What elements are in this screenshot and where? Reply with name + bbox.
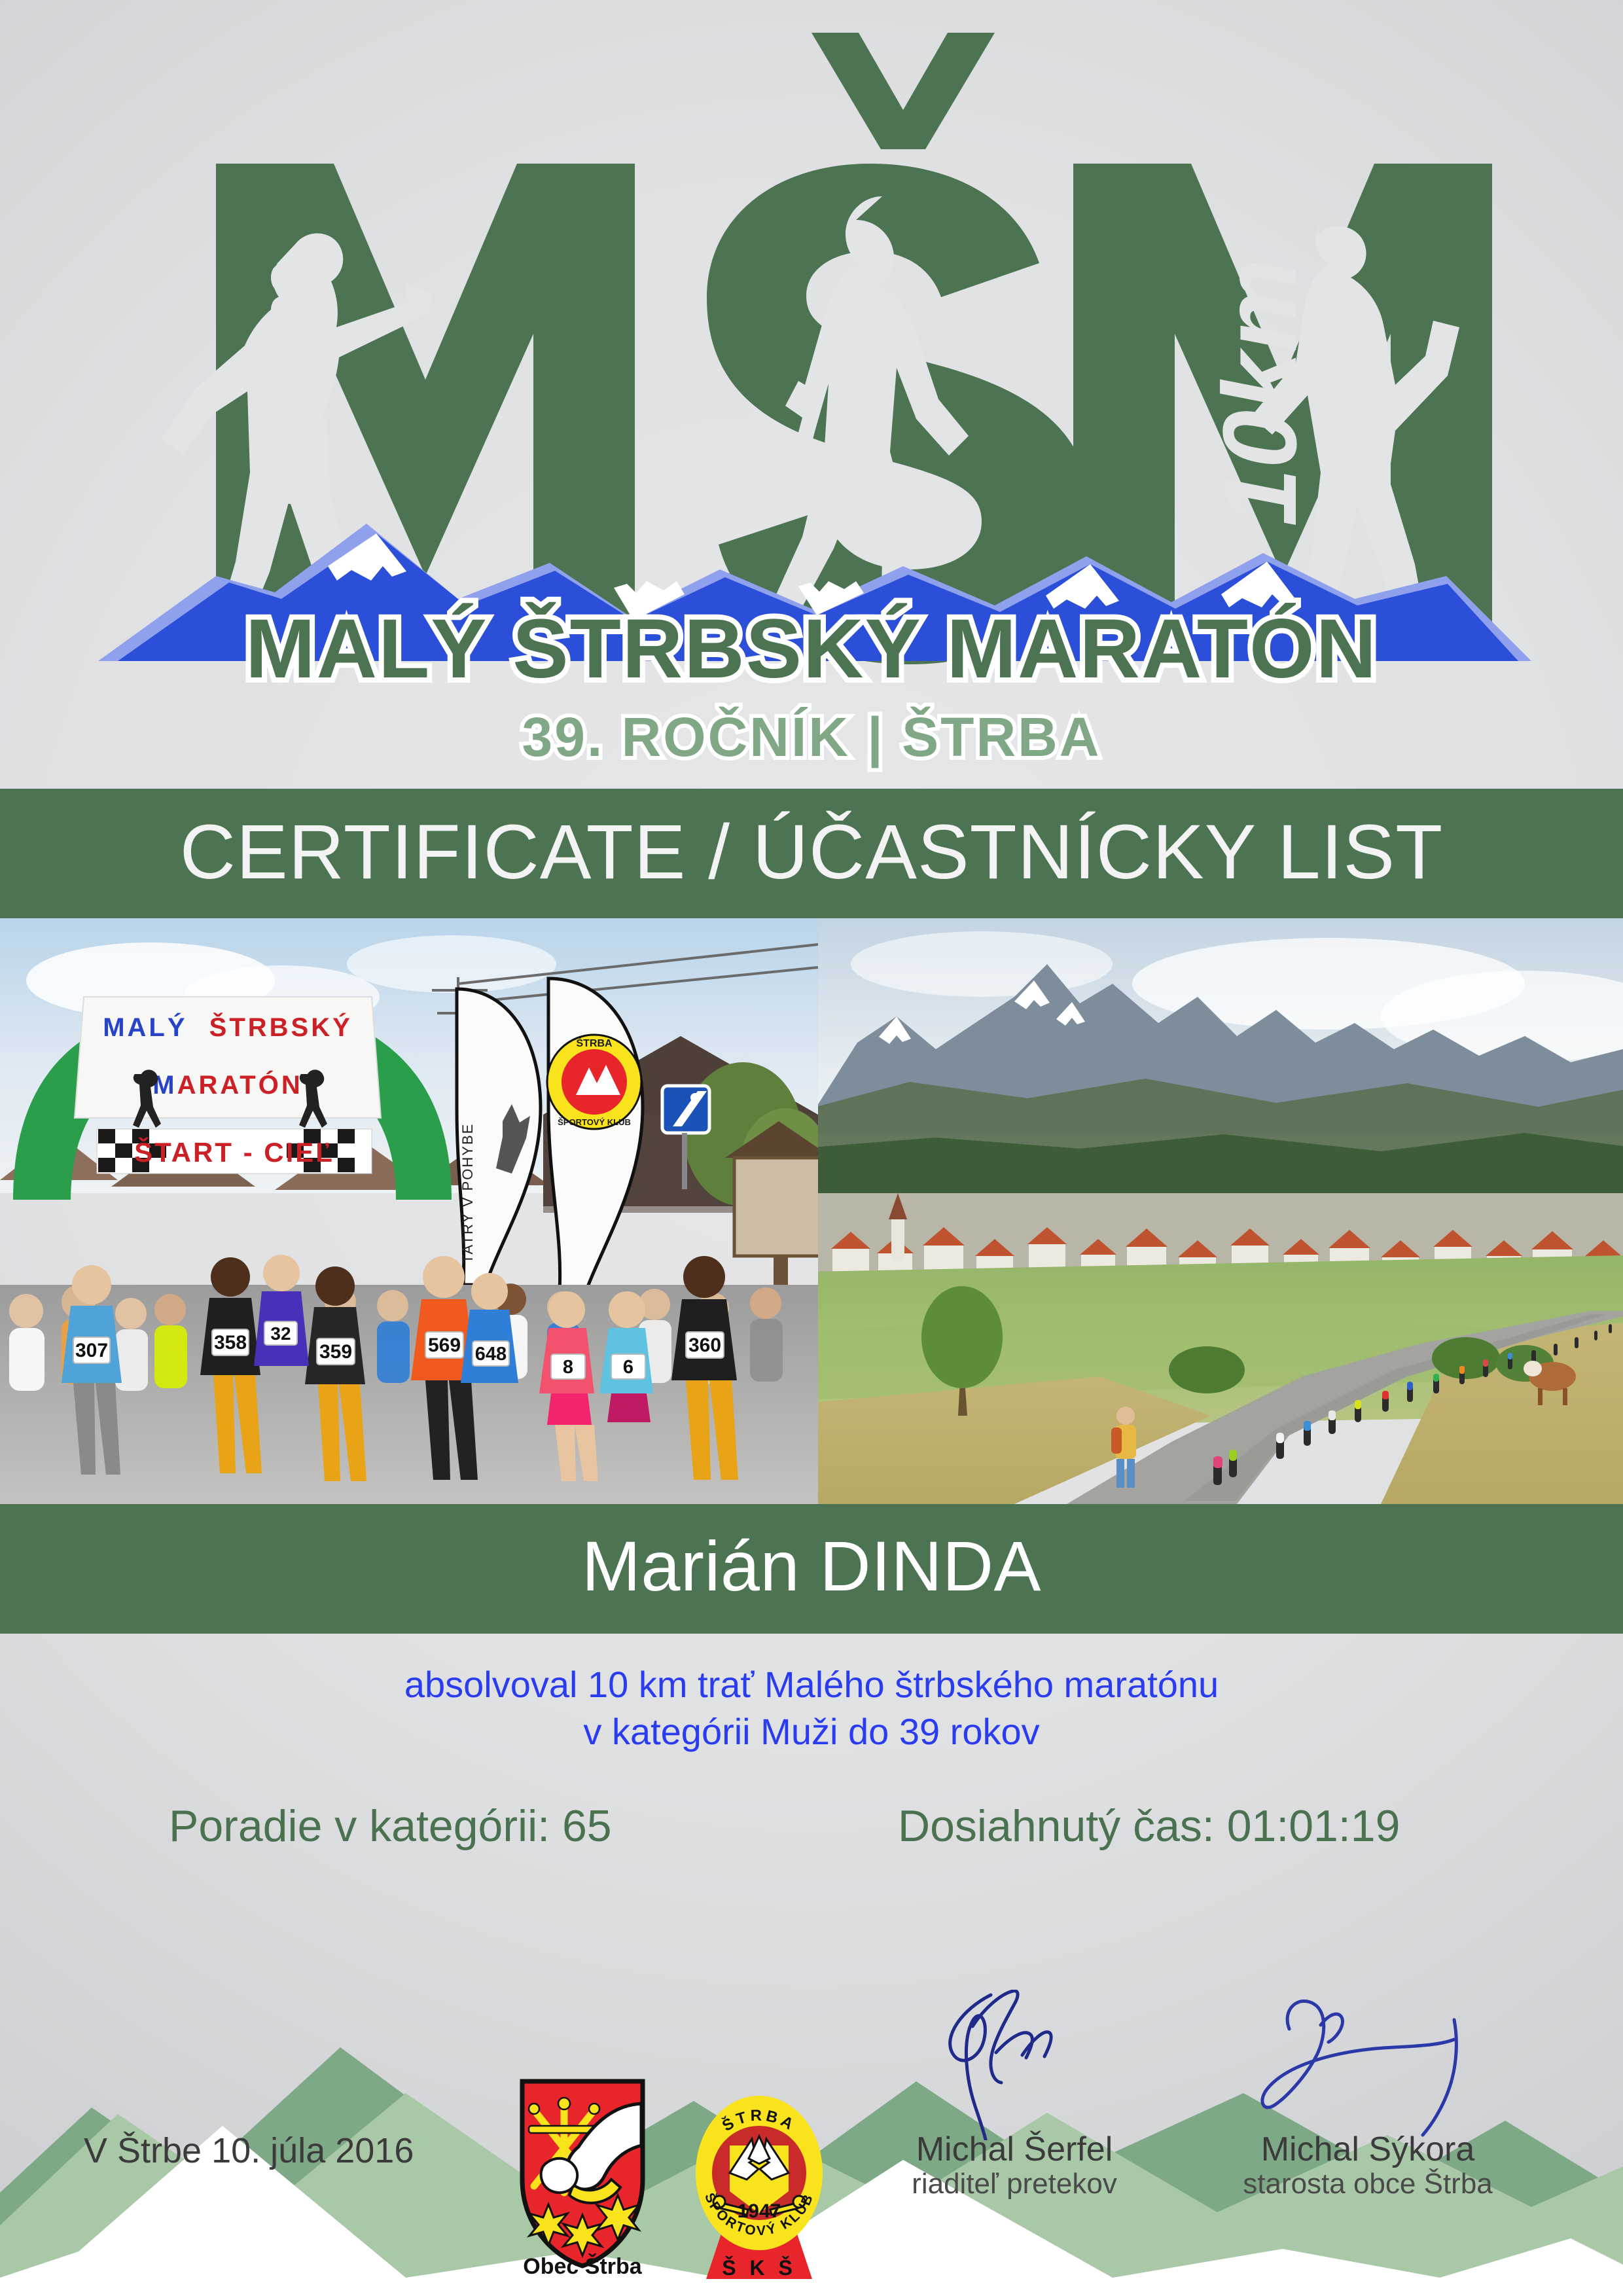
signatory-role: riaditeľ pretekov (844, 2168, 1185, 2201)
distance-left-label: 31km (232, 259, 349, 526)
arch-line1-b: ŠTRBSKÝ (209, 1012, 353, 1042)
participant-name-banner: Marián DINDA (0, 1504, 1623, 1634)
club-initials: Š K Š (722, 2256, 796, 2280)
obec-strba-coat-of-arms: Obec Štrba (510, 2076, 654, 2279)
signature-block-director: Michal Šerfel riaditeľ pretekov (844, 1990, 1185, 2201)
issue-date: V Štrbe 10. júla 2016 (84, 2130, 414, 2171)
signature-mark-sykora (1198, 1990, 1538, 2140)
certificate-page: 31km 10km (0, 0, 1623, 2296)
achievement-line-1: absolvoval 10 km trať Malého štrbského m… (0, 1661, 1623, 1708)
bib-number: 8 (563, 1357, 573, 1378)
bib-number: 6 (623, 1357, 633, 1378)
distance-right-label: 10km (1201, 259, 1318, 526)
sks-strba-club-logo: 1947 ŠTRBA ŠPORTOVÝ KLUB Š K Š (684, 2068, 834, 2284)
svg-text:ŠPORTOVÝ KLUB: ŠPORTOVÝ KLUB (558, 1117, 631, 1127)
participant-name: Marián DINDA (582, 1531, 1041, 1602)
certificate-title-banner: CERTIFICATE / ÚČASTNÍCKY LIST (0, 789, 1623, 918)
bib-number: 648 (475, 1344, 507, 1365)
certificate-footer: V Štrbe 10. júla 2016 (0, 2062, 1623, 2296)
photo-course-landscape (818, 918, 1623, 1504)
bib-number: 358 (214, 1332, 247, 1354)
signature-block-mayor: Michal Sýkora starosta obce Štrba (1198, 1990, 1538, 2201)
bib-number: 32 (270, 1323, 291, 1344)
bib-number: 360 (688, 1335, 721, 1356)
result-details: absolvoval 10 km trať Malého štrbského m… (0, 1634, 1623, 1909)
category-rank: Poradie v kategórii: 65 (169, 1801, 612, 1852)
signatory-name: Michal Šerfel (844, 2131, 1185, 2168)
signatory-role: starosta obce Štrba (1198, 2168, 1538, 2201)
signatory-name: Michal Sýkora (1198, 2131, 1538, 2168)
achievement-line-2: v kategórii Muži do 39 rokov (0, 1708, 1623, 1755)
photo-race-start: MALÝ ŠTRBSKÝ MARATÓN (0, 918, 818, 1504)
bib-number: 307 (75, 1340, 108, 1361)
finish-time: Dosiahnutý čas: 01:01:19 (898, 1801, 1400, 1852)
svg-text:ŠTRBA: ŠTRBA (576, 1037, 613, 1049)
bib-number: 359 (319, 1341, 352, 1363)
event-subtitle: 39. ROČNÍK | ŠTRBA (522, 706, 1101, 768)
svg-text:MALÝ ŠTRBSKÝ: MALÝ ŠTRBSKÝ (103, 1012, 353, 1042)
svg-text:MARATÓN: MARATÓN (152, 1069, 302, 1100)
club-year: 1947 (738, 2200, 781, 2222)
arch-line1-a: MALÝ (103, 1012, 187, 1042)
photo-strip: MALÝ ŠTRBSKÝ MARATÓN (0, 918, 1623, 1504)
event-title: MALÝ ŠTRBSKÝ MARATÓN (245, 602, 1378, 696)
bib-number: 569 (428, 1335, 461, 1356)
flag-text: TATRY V POHYBE (459, 1123, 476, 1264)
msm-logo-graphic: 31km 10km (0, 0, 1623, 789)
signature-mark-serfel (844, 1990, 1185, 2140)
certificate-title: CERTIFICATE / ÚČASTNÍCKY LIST (180, 814, 1443, 891)
arch-start-finish: ŠTART - CIEĽ (134, 1136, 334, 1168)
crest-obec-label: Obec Štrba (523, 2253, 642, 2279)
event-logo-block: 31km 10km (0, 0, 1623, 789)
